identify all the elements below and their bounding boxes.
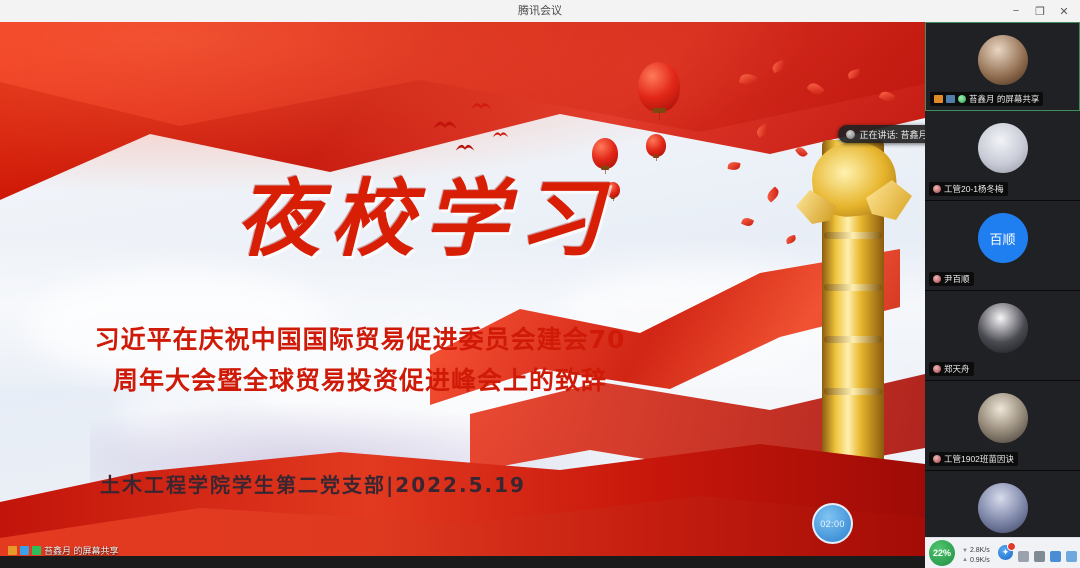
- speaking-indicator-label: 正在讲话: 苔鑫月;: [859, 128, 930, 141]
- presentation-slide: 夜校学习 习近平在庆祝中国国际贸易促进委员会建会70 周年大会暨全球贸易投资促进…: [0, 22, 925, 556]
- participant-name: 苔鑫月 的屏幕共享: [969, 93, 1039, 105]
- avatar: [978, 393, 1028, 443]
- microphone-muted-icon: [933, 455, 941, 463]
- bird-icon: [455, 142, 475, 153]
- petal-decoration: [765, 186, 781, 202]
- petal-decoration: [795, 145, 808, 159]
- participant-name-bar: 郑天舟: [929, 362, 974, 376]
- notification-badge: [1007, 542, 1016, 551]
- up-arrow-icon: ▲: [962, 556, 968, 564]
- participant-name: 郑天舟: [944, 363, 970, 375]
- camera-icon: [20, 546, 29, 555]
- network-down-speed: 2.8K/s: [970, 546, 990, 555]
- microphone-muted-icon: [933, 275, 941, 283]
- avatar: [978, 303, 1028, 353]
- keyboard-icon[interactable]: [1018, 551, 1029, 562]
- microphone-icon: [958, 95, 966, 103]
- screen-share-icon: [946, 95, 955, 103]
- minimize-icon[interactable]: −: [1004, 0, 1028, 22]
- bird-icon: [470, 100, 492, 112]
- network-up-speed: 0.9K/s: [970, 556, 990, 565]
- speaking-indicator: 正在讲话: 苔鑫月;: [838, 125, 938, 143]
- avatar: [978, 35, 1028, 85]
- slide-subtitle: 习近平在庆祝中国国际贸易促进委员会建会70 周年大会暨全球贸易投资促进峰会上的致…: [70, 320, 650, 401]
- slide-title: 夜校学习: [236, 172, 656, 266]
- down-arrow-icon: ▼: [962, 547, 968, 555]
- microphone-muted-icon: [933, 185, 941, 193]
- window-controls: − ❐ ✕: [1004, 0, 1076, 22]
- screen-share-label: 苔鑫月 的屏幕共享: [44, 544, 119, 557]
- tencent-meeting-window: 腾讯会议 − ❐ ✕: [0, 0, 1080, 568]
- avatar: [978, 483, 1028, 533]
- presenter-icon: [934, 95, 943, 103]
- slide-subtitle-line-1: 习近平在庆祝中国国际贸易促进委员会建会70: [70, 320, 650, 361]
- battery-percent-badge[interactable]: 22%: [929, 540, 955, 566]
- tray-icons[interactable]: [1018, 551, 1077, 562]
- pillar-segment: [824, 336, 882, 343]
- participant-rail[interactable]: 苔鑫月 的屏幕共享 工管20-1杨冬梅 百顺 尹百顺 郑天舟: [925, 22, 1080, 556]
- network-icon[interactable]: [1034, 551, 1045, 562]
- window-title-bar: 腾讯会议 − ❐ ✕: [0, 0, 1080, 23]
- participant-name-bar: 苔鑫月 的屏幕共享: [930, 92, 1043, 106]
- slide-footer: 土木工程学院学生第二党支部|2022.5.19: [100, 469, 526, 498]
- close-icon[interactable]: ✕: [1052, 0, 1076, 22]
- bird-icon: [432, 118, 458, 132]
- participant-name: 工管1902班苗因诀: [944, 453, 1014, 465]
- participant-tile[interactable]: 工管1902班苗因诀: [925, 381, 1080, 471]
- slide-timer-badge: 02:00: [812, 503, 853, 544]
- avatar: 百顺: [978, 213, 1028, 263]
- balloon-icon: [646, 134, 666, 161]
- language-icon[interactable]: [1066, 551, 1077, 562]
- participant-tile[interactable]: 百顺 尹百顺: [925, 201, 1080, 291]
- participant-name-bar: 工管1902班苗因诀: [929, 452, 1018, 466]
- participant-name-bar: 尹百顺: [929, 272, 974, 286]
- screen-share-status-bar: 苔鑫月 的屏幕共享: [0, 544, 925, 556]
- balloon-icon: [638, 62, 680, 120]
- participant-tile[interactable]: 工管20-1杨冬梅: [925, 111, 1080, 201]
- participant-tile[interactable]: 郑天舟: [925, 291, 1080, 381]
- participant-tile[interactable]: 苔鑫月 的屏幕共享: [925, 22, 1080, 111]
- bird-icon: [492, 130, 509, 139]
- presenter-icon: [8, 546, 17, 555]
- shared-screen-stage[interactable]: 夜校学习 习近平在庆祝中国国际贸易促进委员会建会70 周年大会暨全球贸易投资促进…: [0, 22, 925, 556]
- maximize-icon[interactable]: ❐: [1028, 0, 1052, 22]
- pillar-segment: [824, 232, 882, 239]
- microphone-icon: [846, 130, 855, 139]
- volume-icon[interactable]: [1050, 551, 1061, 562]
- petal-decoration: [727, 161, 740, 171]
- pillar-segment: [824, 284, 882, 291]
- participant-name-bar: 工管20-1杨冬梅: [929, 182, 1008, 196]
- slide-subtitle-line-2: 周年大会暨全球贸易投资促进峰会上的致辞: [70, 361, 650, 402]
- participant-name: 工管20-1杨冬梅: [944, 183, 1004, 195]
- microphone-muted-icon: [933, 365, 941, 373]
- pillar-segment: [824, 388, 882, 395]
- petal-decoration: [741, 216, 754, 228]
- avatar: [978, 123, 1028, 173]
- window-title: 腾讯会议: [0, 0, 1080, 22]
- balloon-icon: [592, 138, 618, 174]
- network-speed-indicator[interactable]: ▼ 2.8K/s ▲ 0.9K/s: [962, 546, 990, 565]
- participant-name: 尹百顺: [944, 273, 970, 285]
- microphone-icon: [32, 546, 41, 555]
